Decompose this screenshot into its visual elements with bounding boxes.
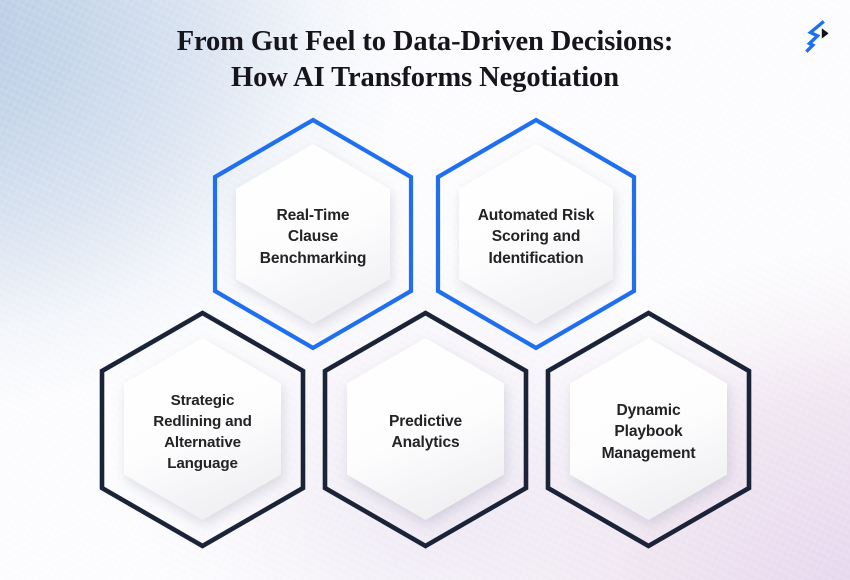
hexagon-grid: Real-Time Clause Benchmarking <box>0 0 850 580</box>
hexagon-card-predictive-analytics[interactable]: Predictive Analytics <box>316 307 535 557</box>
hexagon-inner-fill <box>124 338 281 520</box>
hexagon-card-dynamic-playbook-management[interactable]: Dynamic Playbook Management <box>539 307 758 557</box>
hexagon-card-strategic-redlining-and-alternative-language[interactable]: Strategic Redlining and Alternative Lang… <box>93 307 312 557</box>
hexagon-inner-fill <box>347 338 504 520</box>
hexagon-inner-fill <box>459 144 613 324</box>
hexagon-inner-fill <box>570 338 727 520</box>
infographic-canvas: From Gut Feel to Data-Driven Decisions: … <box>0 0 850 580</box>
hexagon-inner-fill <box>236 144 390 324</box>
